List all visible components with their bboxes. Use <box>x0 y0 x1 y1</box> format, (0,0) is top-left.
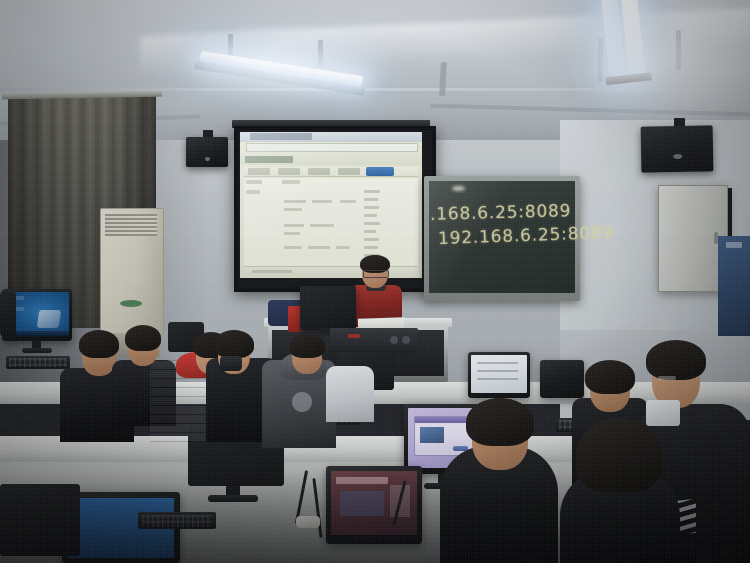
student-smiling-right-collar <box>646 400 680 426</box>
content-label-2 <box>246 190 260 194</box>
app-title <box>245 156 293 163</box>
monitor-off-2[interactable] <box>540 360 584 398</box>
student-right-mid-hair <box>585 360 635 394</box>
av-knob-1[interactable] <box>390 336 398 344</box>
av-indicator-light <box>348 334 360 338</box>
keyboard-front-left[interactable] <box>138 512 216 529</box>
classroom-photo: .168.6.25:8089 192.168.6.25:8089 <box>0 0 750 563</box>
content-row-b2 <box>310 224 334 227</box>
student-smiling-right-hair <box>646 340 706 380</box>
browser-url-bar[interactable] <box>246 143 418 152</box>
instructor-glasses <box>363 270 389 278</box>
light-tube-right-b <box>621 0 645 77</box>
student-far-right-torso <box>696 430 750 563</box>
content-row-c2 <box>308 246 330 249</box>
monitor-windows7-foot <box>22 348 52 353</box>
browser-title-label <box>250 133 312 140</box>
content-row-c1 <box>284 246 302 249</box>
content-row-a3 <box>340 200 356 203</box>
content-header <box>282 180 300 184</box>
air-conditioner-logo <box>120 300 142 307</box>
windows-logo-icon <box>37 310 62 328</box>
app-content-area <box>244 178 418 266</box>
student-masked-hair <box>214 330 254 358</box>
content-value-3 <box>364 206 379 209</box>
fluorescent-light-right <box>591 0 708 90</box>
av-control-unit[interactable] <box>330 328 418 354</box>
blackboard-text-line-1: .168.6.25:8089 <box>430 201 572 225</box>
monitor-red-webpage[interactable] <box>326 466 422 544</box>
keyboard-left-back[interactable] <box>6 356 70 369</box>
content-row-b3 <box>284 232 300 235</box>
speaker-left-led <box>205 157 210 161</box>
app-tab-1[interactable] <box>248 168 270 175</box>
student-smiling-right-smile <box>658 376 676 380</box>
podium-monitor[interactable] <box>300 286 356 330</box>
av-knob-2[interactable] <box>402 336 410 344</box>
content-row-b1 <box>284 224 304 227</box>
student-gray-hood-print <box>292 392 312 412</box>
content-value-4 <box>364 214 377 217</box>
content-value-7 <box>364 238 379 241</box>
blue-wall-panel <box>718 236 750 336</box>
monitor-back-front-left[interactable] <box>0 484 80 556</box>
power-adapter <box>296 516 320 528</box>
content-value-2 <box>364 198 378 201</box>
content-row-c3 <box>336 246 350 249</box>
content-row-a2 <box>312 200 332 203</box>
monitor-document-screen <box>471 355 527 393</box>
air-conditioner-grille <box>105 214 157 236</box>
content-value-6 <box>364 230 376 233</box>
setup-dialog-titlebar <box>415 417 473 423</box>
app-tab-2[interactable] <box>278 168 300 175</box>
app-primary-button[interactable] <box>366 167 394 176</box>
student-gray-hood-hair <box>289 334 325 358</box>
projector-screen <box>240 132 422 278</box>
student-front-center-hair <box>466 398 534 446</box>
content-value-1 <box>364 190 380 193</box>
webpage-content-block <box>340 491 385 515</box>
monitor-document[interactable] <box>468 352 530 398</box>
speaker-left <box>186 137 228 167</box>
student-masked-face-mask <box>220 356 242 371</box>
keyboard-keys <box>142 515 212 527</box>
student-second-left-hair <box>125 325 161 351</box>
app-footer-bar <box>244 266 418 277</box>
content-label-1 <box>246 180 262 184</box>
webpage-header <box>336 477 388 483</box>
setup-dialog-image <box>420 427 444 443</box>
content-value-5 <box>364 222 380 225</box>
monitor-adjacent-left[interactable] <box>0 292 16 336</box>
student-white-jacket-torso <box>326 366 374 422</box>
document-text-lines <box>477 362 518 385</box>
student-right-foreground-hair <box>576 418 662 492</box>
footer-text <box>252 270 292 273</box>
student-front-left-hair <box>79 330 119 358</box>
blue-panel-label <box>726 242 742 248</box>
content-value-8 <box>364 246 378 249</box>
monitor-back-mid-left-foot <box>208 495 258 502</box>
keyboard-keys <box>9 358 67 367</box>
speaker-right-led <box>673 154 682 159</box>
content-row-a1 <box>284 200 306 203</box>
content-row-a4 <box>284 208 302 211</box>
app-tab-3[interactable] <box>308 168 330 175</box>
speaker-right <box>641 125 714 172</box>
blackboard-specular-highlight <box>452 186 465 191</box>
app-tab-4[interactable] <box>338 168 360 175</box>
